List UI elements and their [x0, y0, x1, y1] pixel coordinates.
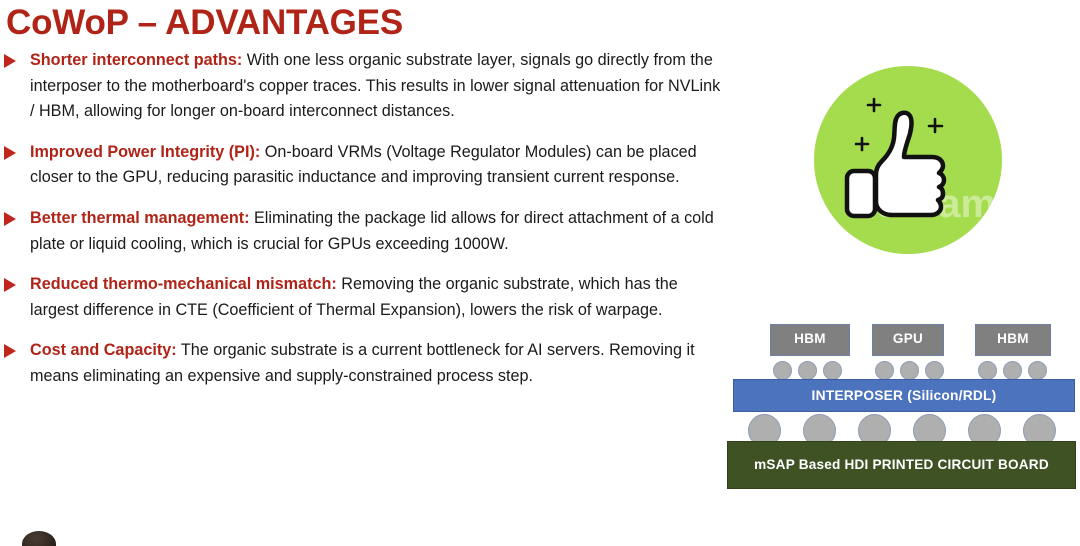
microbump: [1028, 361, 1047, 380]
list-item-lead: Reduced thermo-mechanical mismatch:: [30, 275, 337, 293]
sparkle-icon: [856, 138, 868, 150]
microbump: [900, 361, 919, 380]
list-item: Improved Power Integrity (PI): On-board …: [0, 140, 722, 191]
microbump: [798, 361, 817, 380]
thumbs-up-badge: dream: [814, 66, 1002, 254]
triangle-right-icon: [4, 278, 16, 292]
list-item: Reduced thermo-mechanical mismatch: Remo…: [0, 272, 722, 323]
slide-canvas: CoWoP – ADVANTAGES Shorter interconnect …: [0, 0, 1080, 546]
list-item: Cost and Capacity: The organic substrate…: [0, 338, 722, 389]
advantages-bullet-list: Shorter interconnect paths: With one les…: [0, 48, 722, 405]
microbump: [773, 361, 792, 380]
triangle-right-icon: [4, 146, 16, 160]
sparkle-icon: [868, 99, 880, 111]
microbump: [1003, 361, 1022, 380]
list-item: Better thermal management: Eliminating t…: [0, 206, 722, 257]
avatar: [22, 531, 56, 546]
sparkle-icon: [929, 119, 942, 132]
list-item: Shorter interconnect paths: With one les…: [0, 48, 722, 125]
microbump: [925, 361, 944, 380]
chip-hbm-right: HBM: [975, 324, 1051, 356]
page-title: CoWoP – ADVANTAGES: [6, 2, 403, 44]
triangle-right-icon: [4, 212, 16, 226]
microbump: [823, 361, 842, 380]
microbump: [875, 361, 894, 380]
chip-gpu: GPU: [872, 324, 944, 356]
microbump: [978, 361, 997, 380]
list-item-lead: Better thermal management:: [30, 209, 250, 227]
list-item-lead: Cost and Capacity:: [30, 341, 177, 359]
chip-hbm-left: HBM: [770, 324, 850, 356]
list-item-lead: Improved Power Integrity (PI):: [30, 143, 260, 161]
pcb-layer: mSAP Based HDI PRINTED CIRCUIT BOARD: [727, 441, 1076, 489]
thumbs-up-icon: [814, 66, 1002, 254]
triangle-right-icon: [4, 54, 16, 68]
package-stack-diagram: HBM GPU HBM INTERPOSER (Silicon/RDL) mSA…: [724, 324, 1076, 496]
list-item-lead: Shorter interconnect paths:: [30, 51, 242, 69]
interposer-layer: INTERPOSER (Silicon/RDL): [733, 379, 1075, 412]
triangle-right-icon: [4, 344, 16, 358]
